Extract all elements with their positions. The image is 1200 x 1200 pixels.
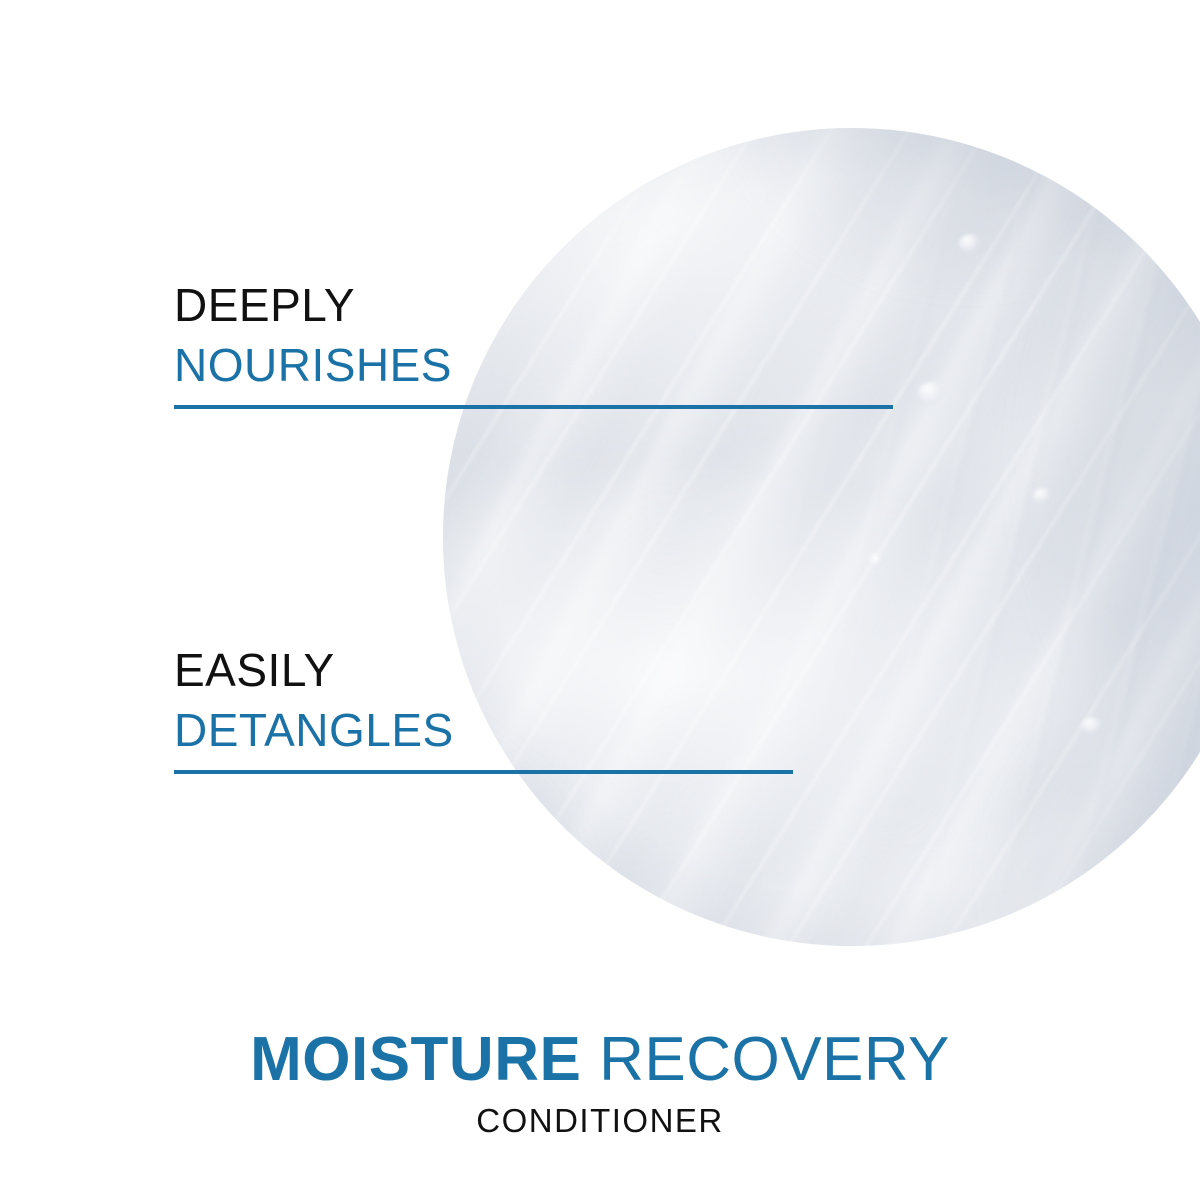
benefit-underline-rule [174,405,893,409]
benefit-line-primary: DEEPLY [174,279,893,331]
benefit-line-secondary: DETANGLES [174,704,793,756]
product-subtitle: CONDITIONER [0,1102,1200,1140]
benefit-callout-detangles: EASILY DETANGLES [174,644,793,774]
benefit-line-secondary: NOURISHES [174,339,893,391]
product-title: MOISTURE RECOVERY [0,1026,1200,1094]
product-title-lockup: MOISTURE RECOVERY CONDITIONER [0,1026,1200,1140]
product-title-word-light: RECOVERY [599,1025,950,1094]
product-title-word-strong: MOISTURE [250,1025,581,1094]
product-texture-swatch [443,128,1200,946]
product-title-space [581,1025,599,1094]
product-marketing-canvas: DEEPLY NOURISHES EASILY DETANGLES MOISTU… [0,0,1200,1200]
benefit-callout-nourishes: DEEPLY NOURISHES [174,279,893,409]
benefit-line-primary: EASILY [174,644,793,696]
benefit-underline-rule [174,770,793,774]
